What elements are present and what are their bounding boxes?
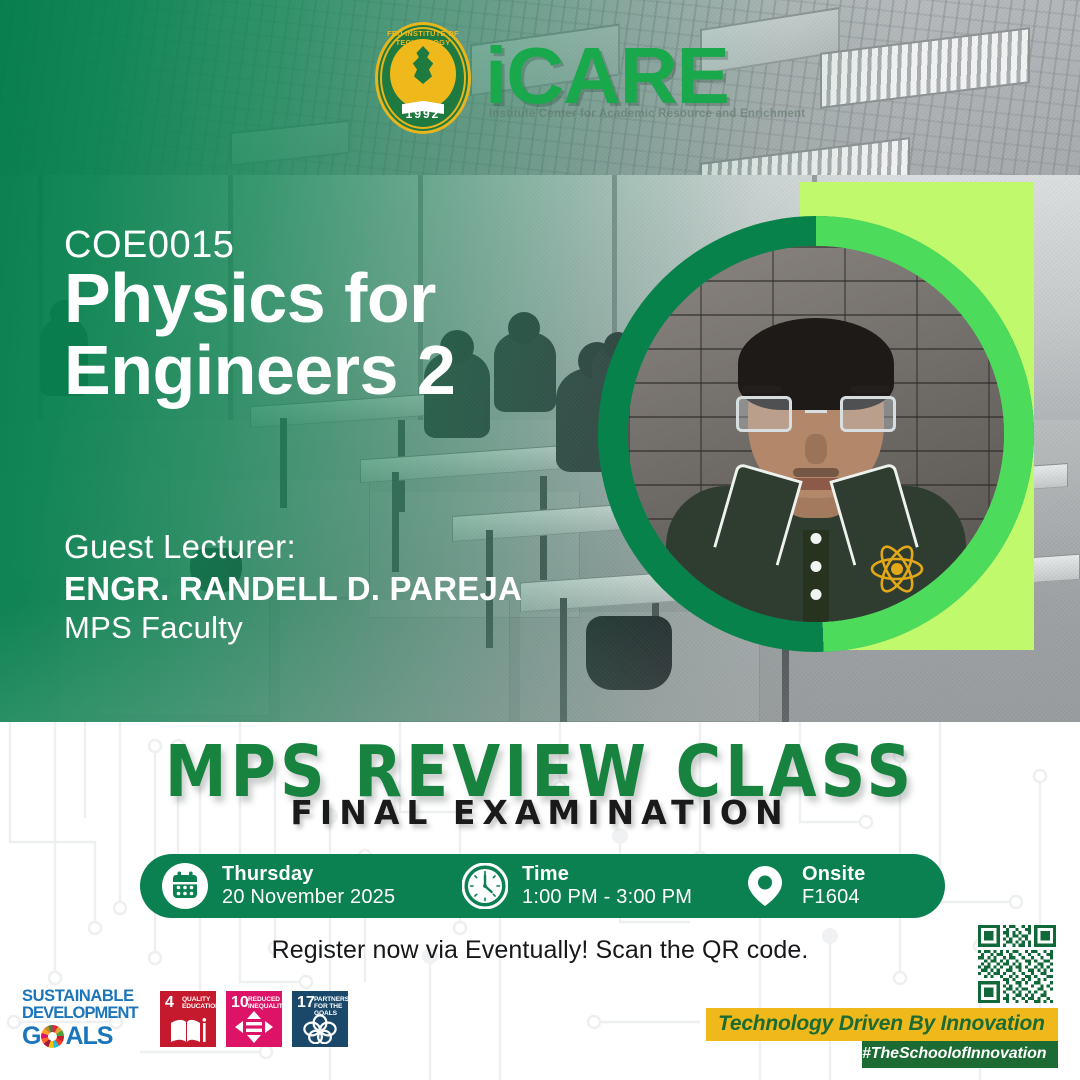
- portrait-ring: [598, 182, 1034, 650]
- detail-venue: Onsite F1604: [742, 863, 865, 909]
- poster-canvas: FEU INSTITUTE OF TECHNOLOGY 1992 iCARE I…: [0, 0, 1080, 1080]
- sdg-goal-10-number: 10: [231, 995, 249, 1011]
- icare-logo: iCARE Institute Center for Academic Reso…: [485, 39, 729, 117]
- sdg-line-3: G ALS: [22, 1023, 150, 1050]
- sdg-logos: SUSTAINABLE DEVELOPMENT G ALS 4 QUALITY …: [22, 988, 348, 1049]
- guest-lecturer-label: Guest Lecturer:: [64, 528, 296, 566]
- guest-lecturer-name: ENGR. RANDELL D. PAREJA: [64, 570, 522, 608]
- hero-section: FEU INSTITUTE OF TECHNOLOGY 1992 iCARE I…: [0, 0, 1080, 722]
- event-details-bar: Thursday 20 November 2025: [140, 854, 945, 918]
- sdg-goal-4: 4 QUALITY EDUCATION: [160, 991, 216, 1047]
- brand-logo-row: FEU INSTITUTE OF TECHNOLOGY 1992 iCARE I…: [375, 22, 729, 134]
- sdg-goal-17: 17 PARTNERSHIPS FOR THE GOALS: [292, 991, 348, 1047]
- seal-year: 1992: [375, 107, 471, 121]
- icare-wordmark: iCARE: [485, 39, 729, 113]
- sdg-goal-4-name: QUALITY EDUCATION: [182, 996, 216, 1010]
- sdg-line-3-pre: G: [22, 1023, 40, 1050]
- detail-time: Time 1:00 PM - 3:00 PM: [462, 863, 742, 909]
- sdg-goal-17-number: 17: [297, 995, 315, 1011]
- lecturer-portrait: [628, 246, 1004, 622]
- sdg-color-wheel-icon: [41, 1025, 64, 1048]
- detail-time-bottom: 1:00 PM - 3:00 PM: [522, 886, 692, 909]
- sdg-goal-10: 10 REDUCED INEQUALITIES: [226, 991, 282, 1047]
- tagline-hashtag: #TheSchoolofInnovation: [862, 1041, 1058, 1068]
- register-note: Register now via Eventually! Scan the QR…: [0, 936, 1080, 965]
- detail-time-top: Time: [522, 863, 692, 886]
- detail-date: Thursday 20 November 2025: [162, 863, 462, 909]
- detail-date-bottom: 20 November 2025: [222, 886, 395, 909]
- detail-venue-bottom: F1604: [802, 886, 865, 909]
- sdg-line-1: SUSTAINABLE: [22, 988, 150, 1005]
- feu-institute-of-technology-seal-icon: FEU INSTITUTE OF TECHNOLOGY 1992: [375, 22, 471, 134]
- sdg-wordmark: SUSTAINABLE DEVELOPMENT G ALS: [22, 988, 150, 1049]
- school-tagline: Technology Driven By Innovation #TheScho…: [706, 1008, 1058, 1068]
- sdg-goal-4-number: 4: [165, 995, 174, 1011]
- equals-arrows-icon: [226, 1010, 282, 1044]
- guest-lecturer-role: MPS Faculty: [64, 610, 243, 646]
- tagline-primary: Technology Driven By Innovation: [706, 1008, 1058, 1041]
- atom-logo-icon: [868, 540, 926, 598]
- calendar-icon: [162, 863, 208, 909]
- sdg-line-2: DEVELOPMENT: [22, 1005, 150, 1022]
- interlocking-circles-icon: [292, 1014, 348, 1044]
- event-subtitle: FINAL EXAMINATION: [0, 793, 1080, 832]
- registration-qr-code[interactable]: [978, 925, 1056, 1003]
- location-pin-icon: [742, 863, 788, 909]
- detail-venue-top: Onsite: [802, 863, 865, 886]
- sdg-line-3-post: ALS: [65, 1023, 112, 1050]
- clock-icon: [462, 863, 508, 909]
- detail-date-top: Thursday: [222, 863, 395, 886]
- open-book-icon: [160, 1018, 216, 1044]
- icare-subtitle: Institute Center for Academic Resource a…: [489, 108, 805, 120]
- sdg-goal-10-name: REDUCED INEQUALITIES: [248, 996, 282, 1010]
